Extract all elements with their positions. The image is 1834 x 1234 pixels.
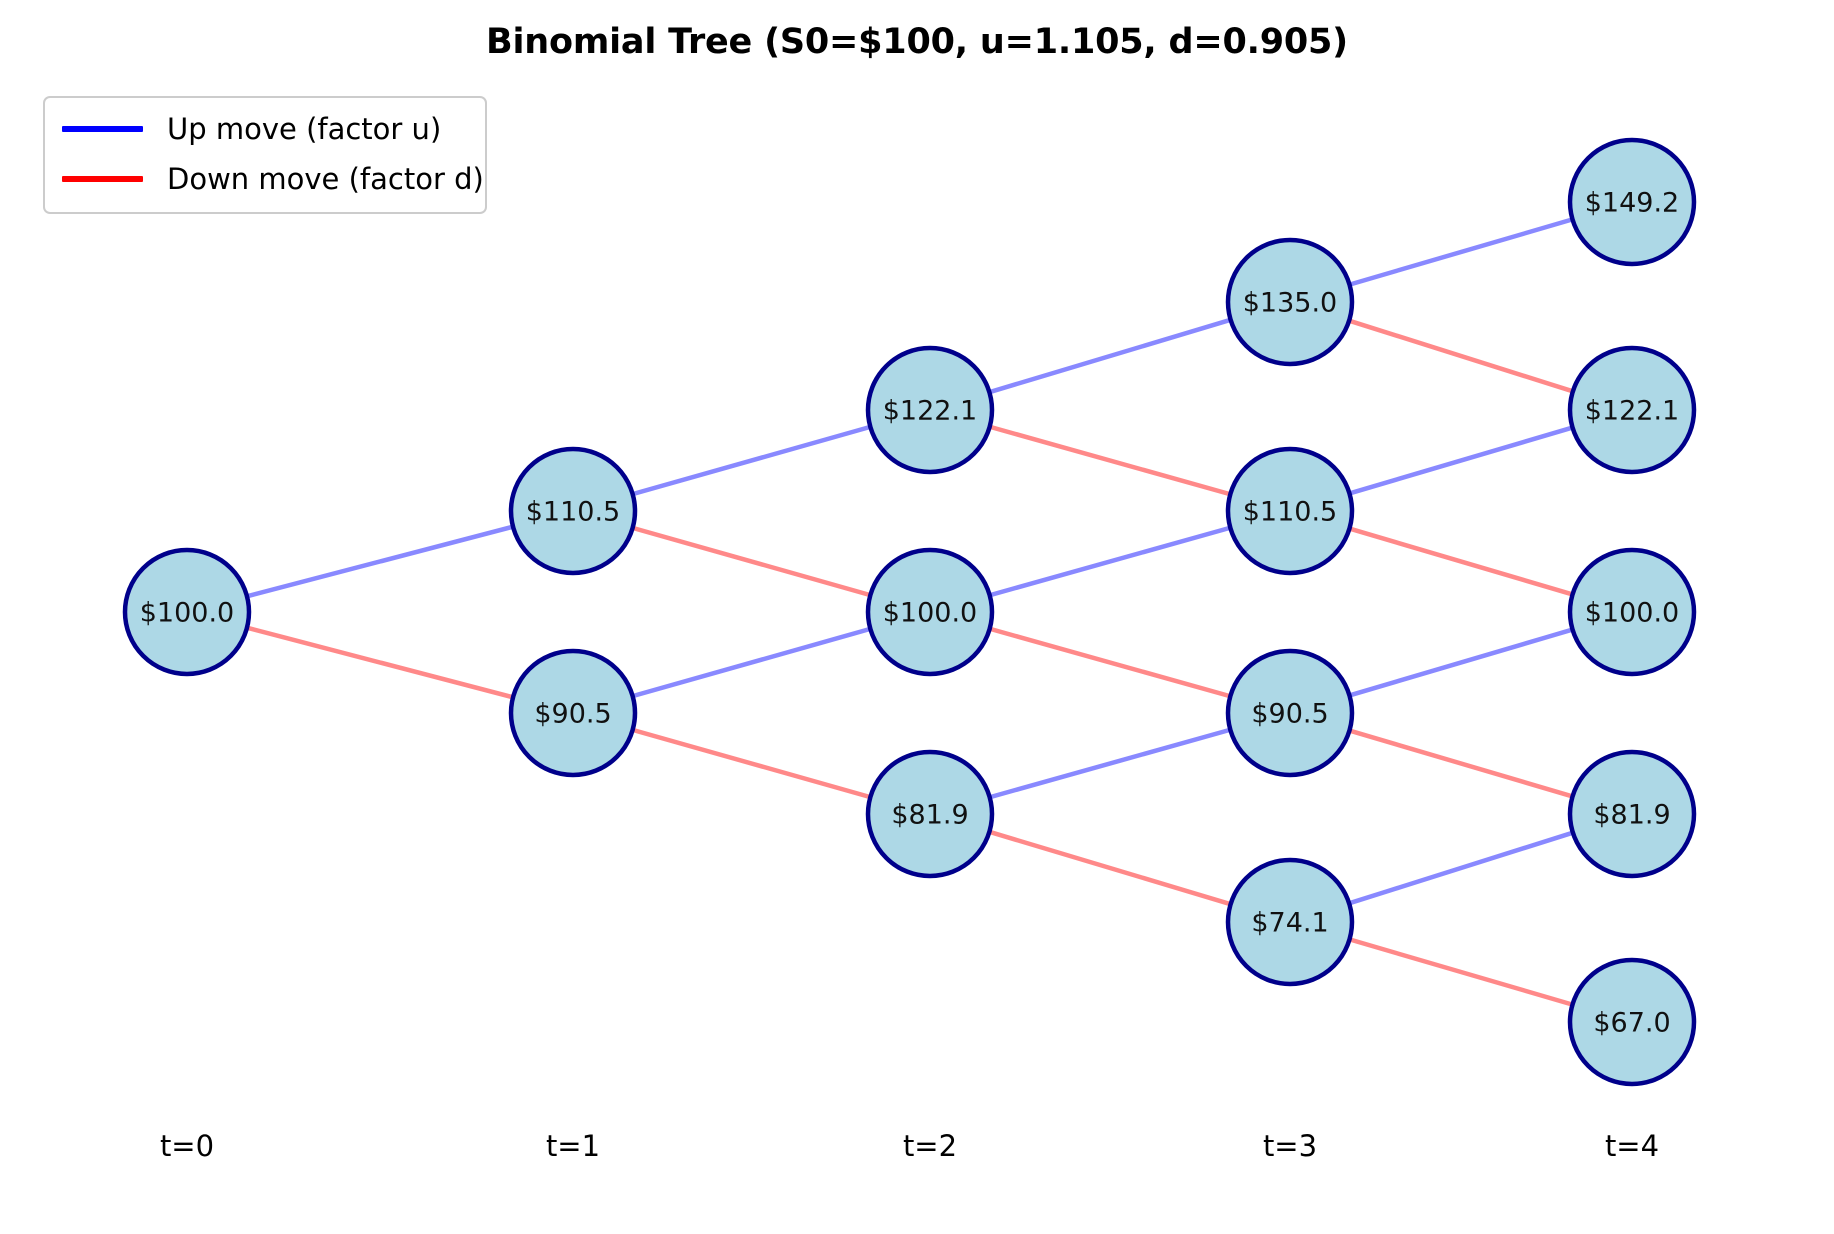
edge-down-move: [990, 629, 1231, 697]
tree-node[interactable]: $122.1: [1570, 348, 1694, 472]
tree-node[interactable]: $74.1: [1228, 860, 1352, 984]
tree-node-value-label: $67.0: [1593, 1008, 1670, 1039]
tree-node-value-label: $100.0: [1585, 598, 1679, 629]
tree-node-value-label: $122.1: [1585, 396, 1679, 427]
edge-up-move: [1349, 428, 1572, 494]
tree-node[interactable]: $81.9: [868, 752, 992, 876]
figure-canvas: Binomial Tree (S0=$100, u=1.105, d=0.905…: [0, 0, 1834, 1234]
tree-node[interactable]: $100.0: [868, 550, 992, 674]
tree-node-value-label: $135.0: [1243, 288, 1337, 319]
edge-down-move: [990, 427, 1231, 495]
tree-node-value-label: $81.9: [1593, 800, 1670, 831]
tree-node-value-label: $74.1: [1251, 908, 1328, 939]
edge-down-move: [633, 730, 871, 797]
time-step-label-4: t=4: [1605, 1129, 1659, 1163]
tree-node[interactable]: $81.9: [1570, 752, 1694, 876]
tree-node[interactable]: $149.2: [1570, 140, 1694, 264]
tree-node[interactable]: $122.1: [868, 348, 992, 472]
time-step-label-3: t=3: [1263, 1129, 1317, 1163]
time-step-label-0: t=0: [160, 1129, 214, 1163]
tree-node[interactable]: $110.5: [1228, 449, 1352, 573]
edge-down-move: [1349, 321, 1573, 392]
edge-down-move: [247, 628, 513, 698]
edge-down-move: [1349, 529, 1572, 595]
tree-node-value-label: $149.2: [1585, 188, 1679, 219]
edge-down-move: [633, 528, 871, 595]
time-step-label-1: t=1: [546, 1129, 600, 1163]
tree-node-value-label: $90.5: [1251, 699, 1328, 730]
edge-up-move: [1350, 219, 1573, 284]
legend-item-up-move: Up move (factor u): [45, 104, 485, 154]
legend-item-down-move: Down move (factor d): [45, 154, 485, 204]
tree-node-value-label: $90.5: [534, 699, 611, 730]
edge-down-move: [1350, 939, 1573, 1004]
tree-node-value-label: $100.0: [140, 598, 234, 629]
edge-up-move: [633, 629, 871, 696]
time-step-label-2: t=2: [903, 1129, 957, 1163]
edge-up-move: [633, 427, 871, 494]
edge-down-move: [1349, 731, 1572, 797]
legend-label-up: Up move (factor u): [167, 112, 441, 146]
edge-down-move: [989, 832, 1230, 904]
legend: Up move (factor u) Down move (factor d): [43, 96, 487, 214]
tree-node[interactable]: $90.5: [511, 651, 635, 775]
tree-node-value-label: $122.1: [883, 396, 977, 427]
edge-up-move: [990, 730, 1231, 798]
tree-node[interactable]: $100.0: [125, 550, 249, 674]
tree-node-value-label: $81.9: [891, 800, 968, 831]
edge-up-move: [990, 528, 1231, 596]
tree-node[interactable]: $67.0: [1570, 960, 1694, 1084]
tree-node[interactable]: $100.0: [1570, 550, 1694, 674]
edge-up-move: [1349, 833, 1573, 904]
time-axis-labels: t=0t=1t=2t=3t=4: [160, 1129, 1659, 1163]
tree-node-value-label: $110.5: [526, 497, 620, 528]
tree-node[interactable]: $135.0: [1228, 240, 1352, 364]
tree-node[interactable]: $110.5: [511, 449, 635, 573]
legend-line-icon-up: [62, 126, 143, 132]
tree-node-value-label: $100.0: [883, 598, 977, 629]
nodes-layer: $100.0$110.5$90.5$122.1$100.0$81.9$135.0…: [125, 140, 1694, 1084]
tree-node[interactable]: $90.5: [1228, 651, 1352, 775]
edge-up-move: [1349, 630, 1572, 696]
tree-node-value-label: $110.5: [1243, 497, 1337, 528]
legend-label-down: Down move (factor d): [167, 162, 484, 196]
edge-up-move: [247, 527, 513, 597]
legend-line-icon-down: [62, 176, 143, 182]
edge-up-move: [989, 320, 1230, 392]
